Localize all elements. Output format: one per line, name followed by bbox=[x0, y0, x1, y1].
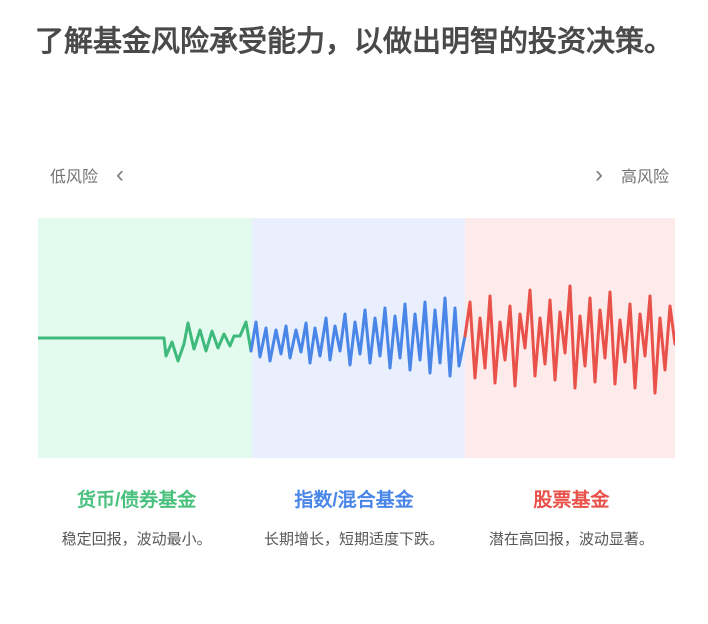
category-description: 稳定回报，波动最小。 bbox=[40, 528, 233, 552]
risk-axis: 低风险 ‹ › 高风险 bbox=[38, 158, 675, 198]
category-description: 长期增长，短期适度下跌。 bbox=[257, 528, 450, 552]
category-column-index-hybrid: 指数/混合基金 长期增长，短期适度下跌。 bbox=[245, 488, 462, 608]
category-description: 潜在高回报，波动显著。 bbox=[475, 528, 668, 552]
category-title: 货币/债券基金 bbox=[40, 488, 233, 514]
medium-risk-line bbox=[251, 298, 465, 376]
chevron-right-icon[interactable]: › bbox=[595, 163, 603, 187]
high-risk-group: › 高风险 bbox=[595, 158, 669, 192]
category-column-equity: 股票基金 潜在高回报，波动显著。 bbox=[463, 488, 680, 608]
category-columns: 货币/债券基金 稳定回报，波动最小。 指数/混合基金 长期增长，短期适度下跌。 … bbox=[28, 488, 680, 608]
chevron-left-icon[interactable]: ‹ bbox=[116, 163, 124, 187]
volatility-chart bbox=[38, 218, 675, 458]
high-risk-line bbox=[465, 286, 675, 393]
risk-infographic-page: 了解基金风险承受能力，以做出明智的投资决策。 低风险 ‹ › 高风险 货币/债券… bbox=[0, 0, 708, 624]
low-risk-label: 低风险 bbox=[50, 163, 98, 187]
category-column-money-bond: 货币/债券基金 稳定回报，波动最小。 bbox=[28, 488, 245, 608]
high-risk-label: 高风险 bbox=[621, 163, 669, 187]
page-title: 了解基金风险承受能力，以做出明智的投资决策。 bbox=[28, 22, 680, 62]
category-title: 指数/混合基金 bbox=[257, 488, 450, 514]
low-risk-line bbox=[38, 322, 251, 361]
low-risk-group: 低风险 ‹ bbox=[50, 158, 124, 192]
category-title: 股票基金 bbox=[475, 488, 668, 514]
volatility-line-svg bbox=[38, 218, 675, 458]
